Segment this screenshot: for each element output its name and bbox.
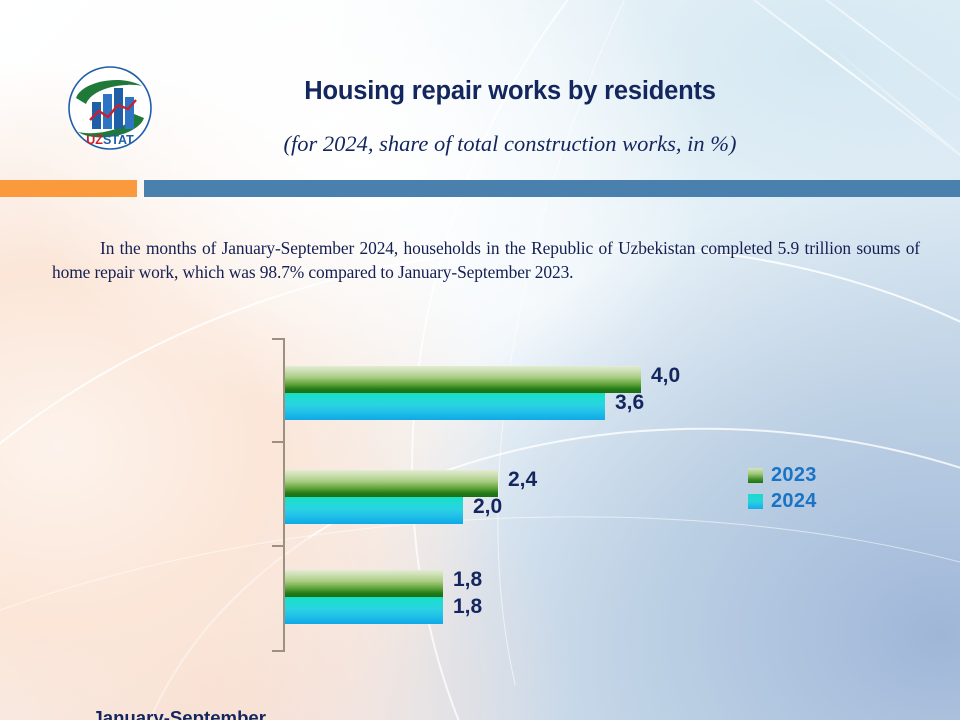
axis-tick bbox=[272, 441, 283, 443]
divider-accent-blue bbox=[144, 180, 960, 197]
page-title: Housing repair works by residents bbox=[160, 77, 860, 106]
legend-item-2023[interactable]: 2023 bbox=[748, 462, 868, 488]
bar-value-2024-january-june: 2,0 bbox=[473, 495, 502, 519]
summary-paragraph: In the months of January-September 2024,… bbox=[52, 236, 920, 284]
bar-2024-january-march[interactable] bbox=[285, 597, 443, 624]
uzstat-logo: UZSTAT bbox=[66, 64, 154, 156]
page-subtitle: (for 2024, share of total construction w… bbox=[160, 131, 860, 157]
bar-value-2023-january-june: 2,4 bbox=[508, 468, 537, 492]
axis-tick bbox=[272, 338, 283, 340]
bar-2024-january-june[interactable] bbox=[285, 497, 463, 524]
bar-value-2023-january-september: 4,0 bbox=[651, 364, 680, 388]
svg-text:UZSTAT: UZSTAT bbox=[86, 133, 134, 147]
chart-legend: 2023 2024 bbox=[748, 462, 868, 514]
bar-value-2024-january-march: 1,8 bbox=[453, 595, 482, 619]
legend-swatch-2023-icon bbox=[748, 468, 763, 483]
legend-item-2024[interactable]: 2024 bbox=[748, 488, 868, 514]
bar-2024-january-september[interactable] bbox=[285, 393, 605, 420]
uzstat-logo-icon: UZSTAT bbox=[66, 64, 154, 156]
bar-value-2023-january-march: 1,8 bbox=[453, 568, 482, 592]
bar-value-2024-january-september: 3,6 bbox=[615, 391, 644, 415]
legend-label-2023: 2023 bbox=[771, 464, 817, 487]
bar-2023-january-march[interactable] bbox=[285, 570, 443, 597]
legend-label-2024: 2024 bbox=[771, 490, 817, 513]
bar-2023-january-september[interactable] bbox=[285, 366, 641, 393]
legend-swatch-2024-icon bbox=[748, 494, 763, 509]
category-label-january-september: January-September bbox=[6, 707, 266, 720]
axis-tick bbox=[272, 650, 283, 652]
divider-accent-orange bbox=[0, 180, 137, 197]
axis-tick bbox=[272, 545, 283, 547]
slide-canvas: UZSTAT Housing repair works by residents… bbox=[0, 0, 960, 720]
bar-2023-january-june[interactable] bbox=[285, 470, 498, 497]
